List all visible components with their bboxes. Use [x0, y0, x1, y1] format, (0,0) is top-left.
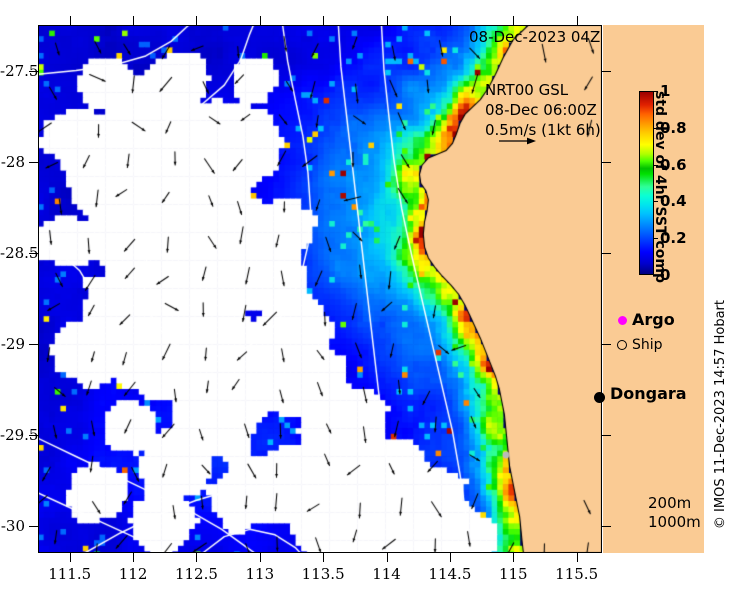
isobath-label-200m: 200m: [648, 494, 701, 513]
x-tick-label: 114.5: [428, 565, 471, 583]
x-tick-label: 114: [372, 565, 401, 583]
y-tick-label: -30: [0, 517, 25, 535]
x-tick-label: 115: [499, 565, 528, 583]
legend-item-argo: Argo: [612, 310, 704, 329]
y-tick: [29, 162, 38, 163]
x-tick: [450, 553, 451, 562]
y-tick-right: [602, 253, 611, 254]
x-tick-label: 112.5: [175, 565, 218, 583]
x-tick-label: 111.5: [48, 565, 91, 583]
x-tick: [387, 553, 388, 562]
y-tick-label: -27.5: [0, 62, 25, 80]
ship-marker-icon: [612, 335, 632, 354]
x-tick-top: [450, 16, 451, 25]
argo-marker-icon: [612, 310, 632, 329]
x-tick: [133, 553, 134, 562]
y-tick: [29, 344, 38, 345]
x-tick: [260, 553, 261, 562]
source-line-time: 08-Dec 06:00Z: [485, 100, 601, 120]
source-line-product: NRT00 GSL: [485, 80, 601, 100]
credit-text: © IMOS 11-Dec-2023 14:57 Hobart: [713, 300, 728, 529]
y-tick-label: -29: [0, 335, 25, 353]
legend-label-argo: Argo: [632, 310, 675, 329]
x-tick-top: [513, 16, 514, 25]
y-tick-right: [602, 526, 611, 527]
x-tick: [70, 553, 71, 562]
x-tick-label: 112: [119, 565, 148, 583]
colorbar-title: std dev of 4hr SST comp: [652, 91, 668, 275]
y-tick-right: [602, 162, 611, 163]
y-tick-label: -28: [0, 153, 25, 171]
x-tick: [577, 553, 578, 562]
isobath-label-1000m: 1000m: [648, 513, 701, 532]
x-tick-top: [70, 16, 71, 25]
reference-velocity-arrow: [498, 134, 538, 148]
x-tick: [323, 553, 324, 562]
legend-label-ship: Ship: [632, 337, 663, 353]
x-tick-top: [260, 16, 261, 25]
y-tick-right: [602, 344, 611, 345]
source-info-block: NRT00 GSL 08-Dec 06:00Z 0.5m/s (1kt 6h): [485, 80, 601, 140]
x-tick-label: 113.5: [302, 565, 345, 583]
y-tick: [29, 526, 38, 527]
y-tick-label: -28.5: [0, 244, 25, 262]
sst-map-figure: 111.5112112.5113113.5114114.5115115.5-27…: [0, 0, 740, 592]
y-tick-right: [602, 71, 611, 72]
y-tick-right: [602, 435, 611, 436]
x-tick: [513, 553, 514, 562]
x-tick: [196, 553, 197, 562]
isobath-key: 200m 1000m: [648, 494, 701, 532]
y-tick-label: -29.5: [0, 426, 25, 444]
date-stamp: 08-Dec-2023 04Z: [469, 28, 600, 46]
legend-item-ship: Ship: [612, 335, 704, 354]
x-tick-label: 113: [245, 565, 274, 583]
dongara-marker: [594, 392, 605, 403]
x-tick-top: [133, 16, 134, 25]
x-tick-top: [323, 16, 324, 25]
dongara-label: Dongara: [610, 384, 687, 403]
x-tick-top: [196, 16, 197, 25]
legend: Argo Ship: [612, 310, 704, 360]
x-tick-top: [577, 16, 578, 25]
x-tick-top: [387, 16, 388, 25]
x-tick-label: 115.5: [555, 565, 598, 583]
